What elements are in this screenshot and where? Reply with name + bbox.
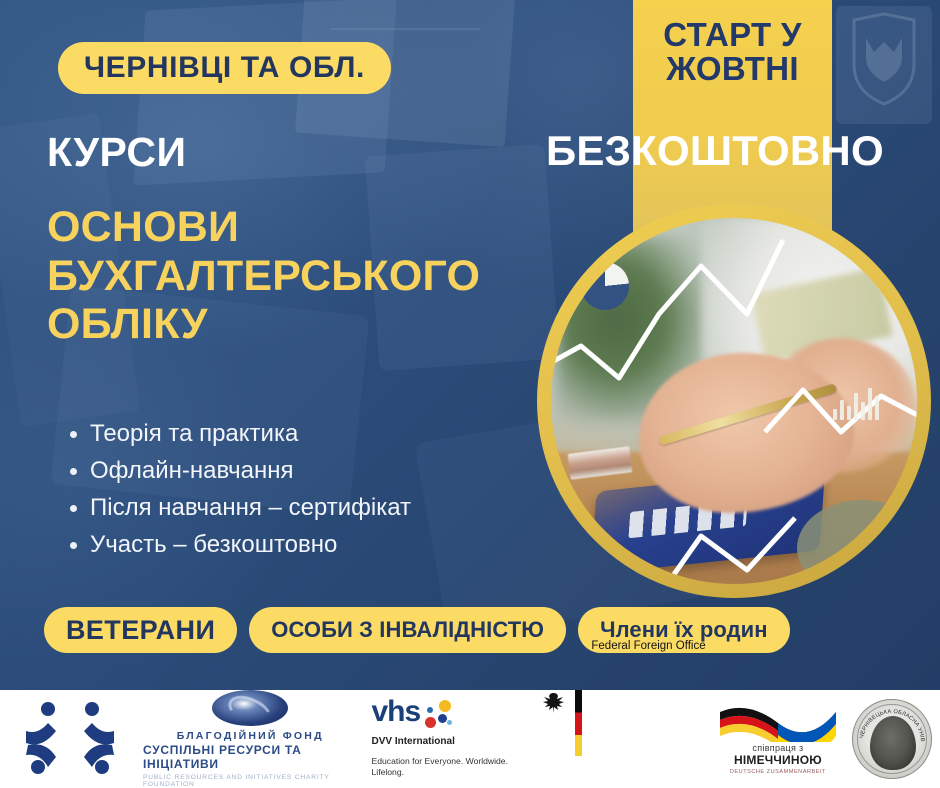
charity-line-3: PUBLIC RESOURCES AND INITIATIVES CHARITY… bbox=[143, 774, 358, 788]
german-flag-bar-icon bbox=[575, 690, 582, 756]
vhs-dvv-logo: vhs DVV International Education for Ever… bbox=[358, 690, 529, 788]
title-line-3: ОБЛІКУ bbox=[47, 300, 567, 349]
audience-badge-disability: ОСОБИ З ІНВАЛІДНІСТЮ bbox=[249, 607, 566, 653]
promo-poster: ЧЕРНІВЦІ ТА ОБЛ. СТАРТ У ЖОВТНІ КУРСИ БЕ… bbox=[0, 0, 940, 788]
charity-line-1: БЛАГОДІЙНИЙ ФОНД bbox=[177, 730, 324, 742]
german-eagle-icon bbox=[540, 690, 568, 720]
charity-foundation-logo: БЛАГОДІЙНИЙ ФОНД СУСПІЛЬНІ РЕСУРСИ ТА ІН… bbox=[143, 690, 358, 788]
partner-logo-strip: БЛАГОДІЙНИЙ ФОНД СУСПІЛЬНІ РЕСУРСИ ТА ІН… bbox=[0, 690, 940, 788]
photo-image bbox=[551, 218, 917, 584]
start-line-1: СТАРТ У bbox=[633, 18, 832, 52]
cooperation-germany-logo: співпраця з НІМЕЧЧИНОЮ DEUTSCHE ZUSAMMEN… bbox=[711, 690, 844, 788]
list-item: Після навчання – сертифікат bbox=[62, 491, 532, 525]
start-line-2: ЖОВТНІ bbox=[633, 52, 832, 86]
pie-chart-icon bbox=[581, 262, 629, 310]
portrait-seal-icon: ЧЕРНІВЕЦЬКА ОБЛАСНА УНІВЕРСАЛЬНА НАУКОВА… bbox=[852, 699, 932, 779]
title-line-1: ОСНОВИ bbox=[47, 203, 567, 252]
dvv-tagline: Education for Everyone. Worldwide. Lifel… bbox=[372, 756, 529, 779]
four-figures-logo bbox=[0, 690, 143, 788]
flag-ribbon-icon bbox=[718, 704, 838, 742]
feature-list: Теорія та практика Офлайн-навчання Після… bbox=[62, 417, 532, 565]
title-line-2: БУХГАЛТЕРСЬКОГО bbox=[47, 252, 567, 301]
portrait-seal-logo: ЧЕРНІВЕЦЬКА ОБЛАСНА УНІВЕРСАЛЬНА НАУКОВА… bbox=[845, 690, 940, 788]
background-line bbox=[330, 28, 480, 30]
bar-chart-icon bbox=[833, 386, 879, 420]
vhs-wordmark: vhs bbox=[372, 700, 421, 724]
cooperation-line-3: DEUTSCHE ZUSAMMENARBEIT bbox=[730, 769, 826, 775]
audience-badge-veterans: ВЕТЕРАНИ bbox=[44, 607, 237, 653]
charity-line-2: СУСПІЛЬНІ РЕСУРСИ ТА ІНІЦІАТИВИ bbox=[143, 743, 358, 771]
seal-curved-text: ЧЕРНІВЕЦЬКА ОБЛАСНА УНІВЕРСАЛЬНА НАУКОВА… bbox=[853, 700, 931, 778]
circular-photo bbox=[537, 204, 931, 598]
vhs-dots-icon bbox=[423, 700, 453, 730]
wolf-emblem-icon bbox=[846, 12, 922, 108]
cooperation-line-1: співпраця з bbox=[752, 743, 803, 753]
dvv-label: DVV International bbox=[372, 736, 455, 747]
list-item: Офлайн-навчання bbox=[62, 454, 532, 488]
federal-foreign-office-logo: Federal Foreign Office bbox=[529, 690, 711, 788]
city-badge: ЧЕРНІВЦІ ТА ОБЛ. bbox=[58, 42, 391, 94]
list-item: Участь – безкоштовно bbox=[62, 528, 532, 562]
cooperation-line-2: НІМЕЧЧИНОЮ bbox=[734, 753, 822, 767]
kicker-label: КУРСИ bbox=[47, 129, 186, 176]
swirl-icon bbox=[212, 690, 288, 726]
four-figures-icon bbox=[18, 701, 126, 777]
list-item: Теорія та практика bbox=[62, 417, 532, 451]
start-heading: СТАРТ У ЖОВТНІ bbox=[633, 18, 832, 87]
free-label: БЕЗКОШТОВНО bbox=[546, 127, 884, 175]
page-title: ОСНОВИ БУХГАЛТЕРСЬКОГО ОБЛІКУ bbox=[47, 203, 567, 349]
federal-foreign-office-label: Federal Foreign Office bbox=[591, 640, 705, 652]
vhs-row: vhs bbox=[372, 700, 454, 730]
svg-text:ЧЕРНІВЕЦЬКА ОБЛАСНА УНІВЕРСАЛЬ: ЧЕРНІВЕЦЬКА ОБЛАСНА УНІВЕРСАЛЬНА НАУКОВА… bbox=[853, 700, 925, 742]
